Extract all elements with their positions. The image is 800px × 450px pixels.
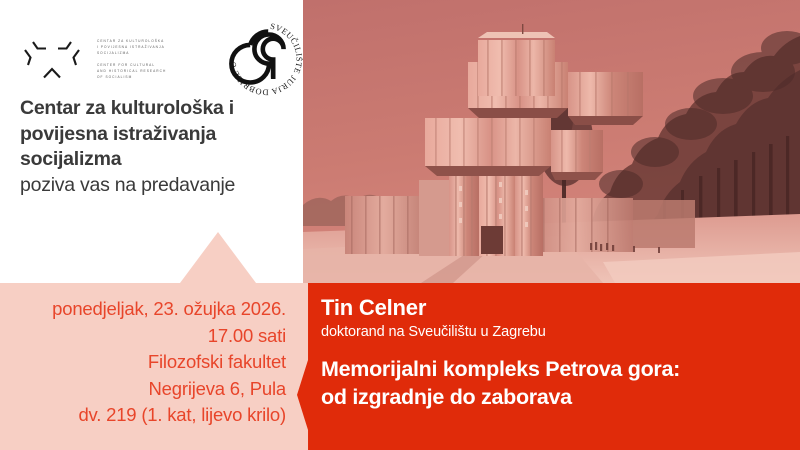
university-seal: SVEUČILIŠTE JURJA DOBRILE U PULI [227,20,305,98]
wordmark-en-line-3: OF SOCIALISM [97,74,222,80]
center-wordmark: CENTAR ZA KULTUROLOŠKA I POVIJESNA ISTRA… [97,38,222,81]
headline-bold-line-1: Centar za kulturološka i [20,96,295,122]
lecture-title-line-1: Memorijalni kompleks Petrova gora: [321,355,791,383]
event-detail-line-time: 17.00 sati [6,323,286,350]
logo-row: CENTAR ZA KULTUROLOŠKA I POVIJESNA ISTRA… [14,12,303,92]
petrova-gora-monument-photo [303,0,800,283]
headline-bold-line-2: povijesna istraživanja [20,122,295,148]
five-pointed-star-brackets-logo [14,14,90,90]
lecture-info-panel: Tin Celner doktorand na Sveučilištu u Za… [288,283,800,450]
event-details-text: ponedjeljak, 23. ožujka 2026. 17.00 sati… [6,296,286,429]
event-detail-line-room: dv. 219 (1. kat, lijevo krilo) [6,402,286,429]
lecture-title-line-2: od izgradnje do zaborava [321,383,791,411]
headline-invitation-line: poziva vas na predavanje [20,173,295,199]
speaker-affiliation: doktorand na Sveučilištu u Zagrebu [321,322,791,342]
lecture-info-text: Tin Celner doktorand na Sveučilištu u Za… [321,283,791,411]
header-area: CENTAR ZA KULTUROLOŠKA I POVIJESNA ISTRA… [0,0,303,283]
page-title: Centar za kulturološka i povijesna istra… [20,96,295,198]
lecture-title: Memorijalni kompleks Petrova gora: od iz… [321,355,791,411]
speaker-name: Tin Celner [321,294,791,321]
event-detail-line-venue: Filozofski fakultet [6,349,286,376]
lecture-announcement-poster: CENTAR ZA KULTUROLOŠKA I POVIJESNA ISTRA… [0,0,800,450]
event-detail-line-date: ponedjeljak, 23. ožujka 2026. [6,296,286,323]
event-detail-line-address: Negrijeva 6, Pula [6,376,286,403]
headline-bold-line-3: socijalizma [20,147,295,173]
